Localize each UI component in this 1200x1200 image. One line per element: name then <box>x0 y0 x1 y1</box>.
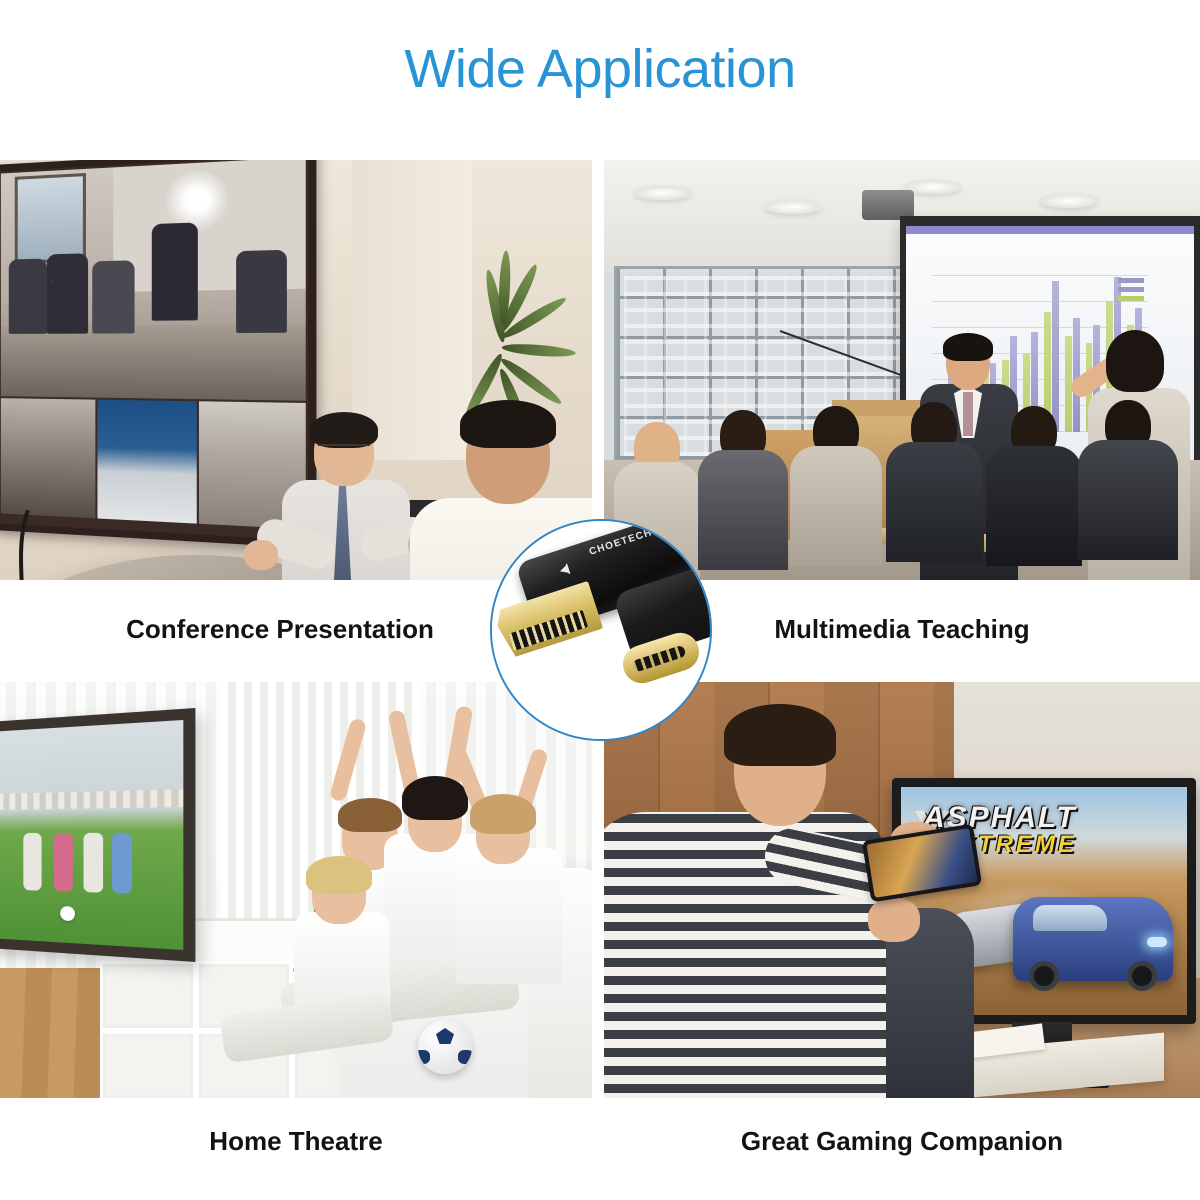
caption-conference-presentation: Conference Presentation <box>0 616 560 642</box>
family-member-child-2 <box>288 852 398 1052</box>
video-feed-main <box>1 160 306 401</box>
photo-conference-presentation <box>0 160 592 580</box>
audience-member-2 <box>698 410 788 580</box>
audience-member-3 <box>790 406 882 580</box>
page-title: Wide Application <box>0 42 1200 96</box>
wall-mounted-tv <box>0 708 195 962</box>
chart-legend <box>1118 278 1144 305</box>
audience-member-6 <box>1078 400 1178 580</box>
rally-car-polo <box>1013 897 1173 981</box>
product-inset-circle: CHOETECH ◀| <box>490 519 712 741</box>
family-member-child <box>448 778 568 1034</box>
caption-great-gaming-companion: Great Gaming Companion <box>604 1128 1200 1154</box>
soccer-ball <box>418 1020 472 1074</box>
usb-c-to-hdmi-cable: CHOETECH ◀| <box>492 521 710 739</box>
infographic-page: Wide Application <box>0 0 1200 1200</box>
photo-home-theatre <box>0 682 592 1098</box>
person-gaming <box>614 712 944 1098</box>
hdmi-plug-icon <box>493 581 604 659</box>
photo-multimedia-teaching <box>604 160 1200 580</box>
ceiling-light-4 <box>1040 194 1098 208</box>
audience-member-4 <box>886 402 982 580</box>
caption-home-theatre: Home Theatre <box>0 1128 592 1154</box>
ceiling-light <box>634 186 692 200</box>
audience-member-5 <box>986 406 1082 580</box>
photo-great-gaming-companion: X ASPHALT XTREME <box>604 682 1200 1098</box>
ceiling-light-2 <box>764 200 822 214</box>
